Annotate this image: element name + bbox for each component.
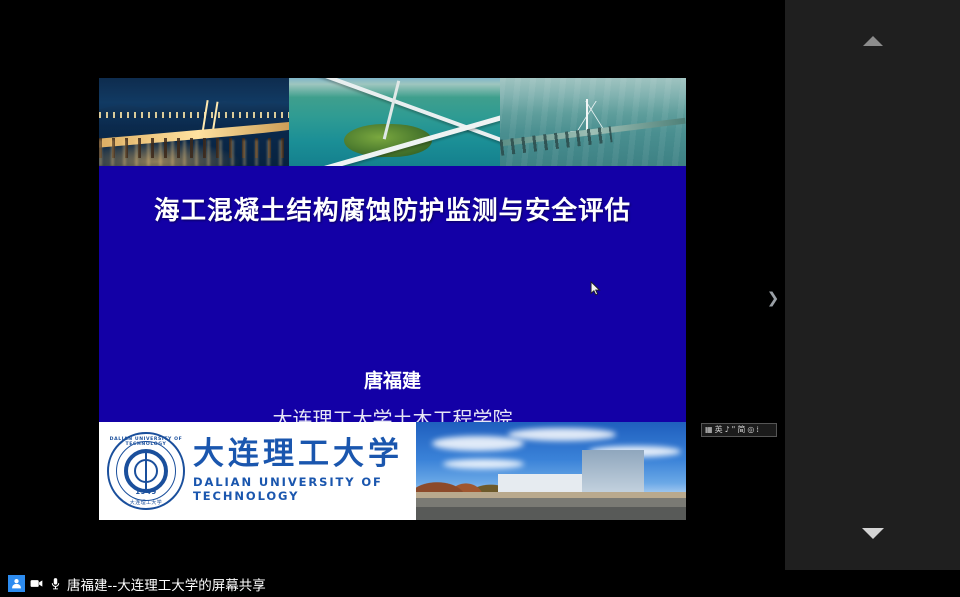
presentation-slide[interactable]: 海工混凝土结构腐蚀防护监测与安全评估 唐福建 大连理工大学土木工程学院 2020…	[99, 78, 686, 520]
cloud-shape	[508, 428, 616, 441]
participant-filmstrip[interactable]: 孙冰	[785, 0, 960, 570]
ime-item-panel-icon[interactable]: ▦	[705, 426, 713, 434]
dut-campus-photo	[416, 422, 686, 520]
slide-photo-strip	[99, 78, 686, 166]
logo-chinese-name: 大连理工大学	[193, 439, 416, 470]
seal-bar	[145, 452, 147, 490]
bridge-aerial-island-photo	[289, 78, 500, 166]
slide-footer-band: DALIAN UNIVERSITY OF TECHNOLOGY 1949 大连理…	[99, 422, 686, 520]
ime-item-settings-icon[interactable]: ◎	[747, 426, 754, 434]
chevron-right-icon[interactable]: ❯	[766, 289, 780, 307]
triangle-down-icon[interactable]	[785, 526, 960, 540]
ime-item-menu-icon[interactable]: ⁞	[756, 426, 759, 434]
campus-road-shape	[416, 498, 686, 520]
slide-author: 唐福建	[99, 366, 686, 393]
logo-english-name: DALIAN UNIVERSITY OF TECHNOLOGY	[193, 475, 416, 503]
ime-item-punctuation[interactable]: "	[732, 426, 736, 434]
cable-stayed-bridge-photo	[500, 78, 686, 166]
share-status-text: 唐福建--大连理工大学的屏幕共享	[67, 574, 266, 594]
campus-tower-shape	[582, 450, 644, 498]
chinese-ime-toolbar[interactable]: ▦ 英 ♪ " 简 ◎ ⁞	[701, 423, 777, 437]
seal-year: 1949	[109, 488, 183, 496]
university-logo: DALIAN UNIVERSITY OF TECHNOLOGY 1949 大连理…	[99, 422, 416, 520]
ime-item-sound-icon[interactable]: ♪	[725, 426, 730, 434]
ime-item-language[interactable]: 英	[715, 426, 723, 434]
shared-screen-area[interactable]: 海工混凝土结构腐蚀防护监测与安全评估 唐福建 大连理工大学土木工程学院 2020…	[0, 0, 785, 570]
bridge-night-photo	[99, 78, 289, 166]
water-reflection-shape	[99, 140, 289, 166]
ime-item-simplified[interactable]: 简	[737, 426, 745, 434]
logo-text-block: 大连理工大学 DALIAN UNIVERSITY OF TECHNOLOGY	[193, 439, 416, 503]
dut-seal-icon: DALIAN UNIVERSITY OF TECHNOLOGY 1949 大连理…	[107, 432, 185, 510]
person-icon	[8, 575, 25, 592]
screen-share-status-bar: 唐福建--大连理工大学的屏幕共享	[0, 570, 960, 597]
video-camera-icon	[29, 576, 44, 591]
cloud-shape	[432, 436, 524, 452]
bridge-pylon-shape	[586, 99, 588, 132]
mic-on-icon	[48, 576, 63, 591]
seal-arc-bottom-text: 大连理工大学	[109, 499, 183, 506]
zoom-meeting-window: 海工混凝土结构腐蚀防护监测与安全评估 唐福建 大连理工大学土木工程学院 2020…	[0, 0, 960, 597]
triangle-up-icon[interactable]	[785, 34, 960, 48]
slide-title: 海工混凝土结构腐蚀防护监测与安全评估	[99, 190, 686, 227]
city-lights-shape	[99, 112, 289, 118]
